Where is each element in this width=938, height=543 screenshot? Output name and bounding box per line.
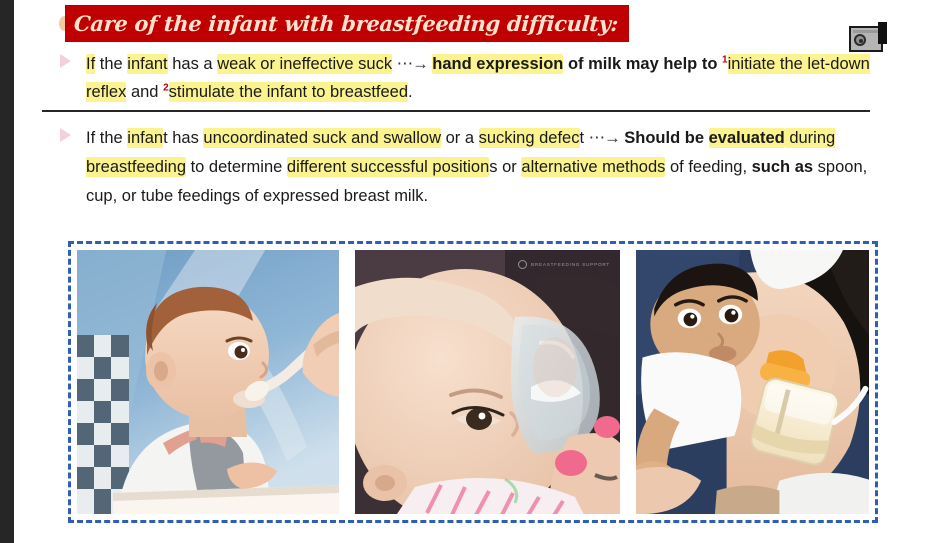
body-text: and	[126, 83, 163, 101]
photo-tube-feeding-image	[636, 250, 869, 514]
bullet-2-text: If the infant has uncoordinated suck and…	[86, 124, 890, 211]
superscript-marker: 2	[163, 83, 169, 94]
highlighted-text: infan	[127, 128, 163, 148]
slide-title-banner: Care of the infant with breastfeeding di…	[66, 6, 628, 41]
body-text: ⋯→	[589, 129, 620, 147]
triangle-bullet-icon	[60, 124, 86, 142]
bullet-1-text: If the infant has a weak or ineffective …	[86, 50, 890, 106]
bullet-item-2: If the infant has uncoordinated suck and…	[60, 124, 890, 211]
body-text: to determine	[186, 158, 287, 176]
body-text: the	[95, 55, 127, 73]
highlighted-text: hand expression	[432, 54, 563, 74]
media-icon-disc	[854, 34, 866, 46]
page-title: Care of the infant with breastfeeding di…	[73, 11, 619, 36]
highlighted-text: uncoordinated suck and swallow	[203, 128, 441, 148]
highlighted-text: If	[86, 54, 95, 74]
body-text: Should be	[624, 129, 708, 147]
photo-spoon-feeding[interactable]	[77, 250, 339, 514]
watermark-logo-icon	[518, 260, 527, 269]
photo-tube-feeding-at-breast[interactable]	[636, 250, 869, 514]
body-text: s or	[489, 158, 521, 176]
left-rail	[0, 0, 14, 543]
highlighted-text: infant	[127, 54, 167, 74]
slide: Care of the infant with breastfeeding di…	[0, 0, 938, 543]
body-text: If the	[86, 129, 127, 147]
body-text: of milk may help to	[563, 55, 722, 73]
superscript-marker: 1	[722, 55, 728, 66]
bullet-item-1: If the infant has a weak or ineffective …	[60, 50, 890, 106]
photo-cup-feeding[interactable]: BREASTFEEDING SUPPORT	[355, 250, 620, 514]
highlighted-text: sucking defec	[479, 128, 580, 148]
triangle-bullet-icon	[60, 50, 86, 68]
body-content: If the infant has a weak or ineffective …	[60, 50, 890, 211]
photo-cup-feeding-image	[355, 250, 620, 514]
highlighted-text: stimulate the infant to breastfeed	[169, 82, 408, 102]
body-text: t has	[163, 129, 203, 147]
body-text: .	[408, 83, 413, 101]
body-text: or a	[441, 129, 479, 147]
highlighted-text: alternative methods	[521, 157, 665, 177]
watermark-text: BREASTFEEDING SUPPORT	[531, 262, 610, 267]
body-text: of feeding,	[665, 158, 751, 176]
highlighted-text: different successful position	[287, 157, 489, 177]
section-divider	[42, 110, 870, 112]
photo-spoon-feeding-image	[77, 250, 339, 514]
body-text: such as	[752, 158, 813, 176]
body-text: ⋯→	[397, 55, 428, 73]
body-text: t	[580, 129, 589, 147]
highlighted-text: evaluated	[709, 128, 785, 148]
body-text: has a	[168, 55, 218, 73]
photo-gallery: BREASTFEEDING SUPPORT	[68, 241, 878, 523]
media-thumbnail-icon[interactable]	[849, 22, 889, 52]
highlighted-text: weak or ineffective suck	[217, 54, 392, 74]
photo-watermark: BREASTFEEDING SUPPORT	[518, 260, 610, 269]
media-icon-tab	[878, 22, 887, 44]
